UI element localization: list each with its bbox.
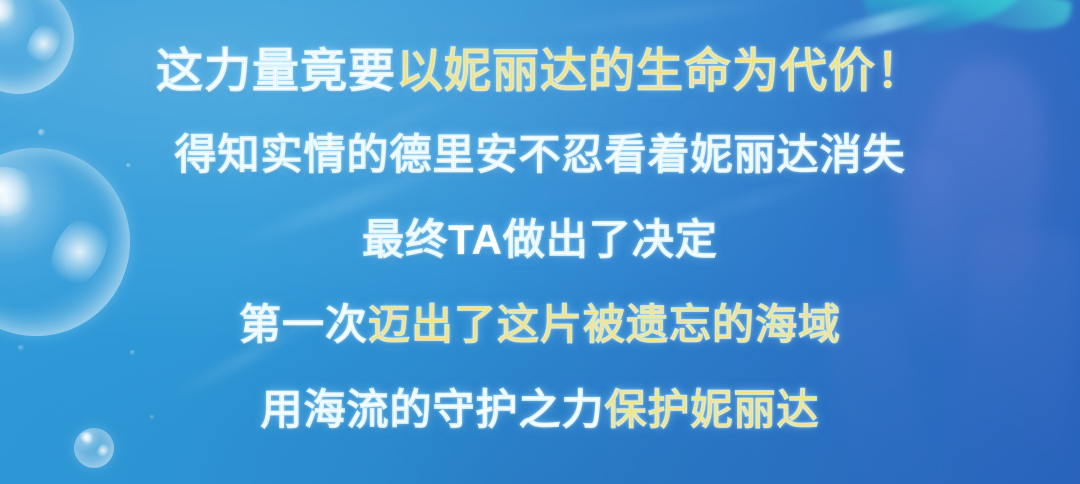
caption-line-3: 最终TA做出了决定: [0, 219, 1080, 261]
caption-line-3-segment-1: 最终TA做出了决定: [362, 216, 718, 263]
caption-line-4-segment-1: 第一次: [239, 301, 368, 348]
caption-line-5-segment-2: 保护妮丽达: [605, 386, 820, 433]
caption-line-5: 用海流的守护之力保护妮丽达: [0, 389, 1080, 431]
caption-line-1-segment-2: 以妮丽达的生命为代价！: [396, 44, 924, 97]
caption-line-2-segment-1: 得知实情的德里安不忍看着妮丽达消失: [174, 131, 905, 178]
caption-line-5-segment-1: 用海流的守护之力: [260, 386, 604, 433]
caption-line-1: 这力量竟要以妮丽达的生命为代价！: [0, 47, 1080, 94]
caption-line-1-segment-1: 这力量竟要: [156, 44, 396, 97]
caption-line-2: 得知实情的德里安不忍看着妮丽达消失: [0, 134, 1080, 176]
caption-line-4: 第一次迈出了这片被遗忘的海域: [0, 304, 1080, 346]
caption-block: 这力量竟要以妮丽达的生命为代价！ 得知实情的德里安不忍看着妮丽达消失 最终TA做…: [0, 0, 1080, 484]
scene-canvas: 这力量竟要以妮丽达的生命为代价！ 得知实情的德里安不忍看着妮丽达消失 最终TA做…: [0, 0, 1080, 484]
caption-line-4-segment-2: 迈出了这片被遗忘的海域: [368, 301, 841, 348]
